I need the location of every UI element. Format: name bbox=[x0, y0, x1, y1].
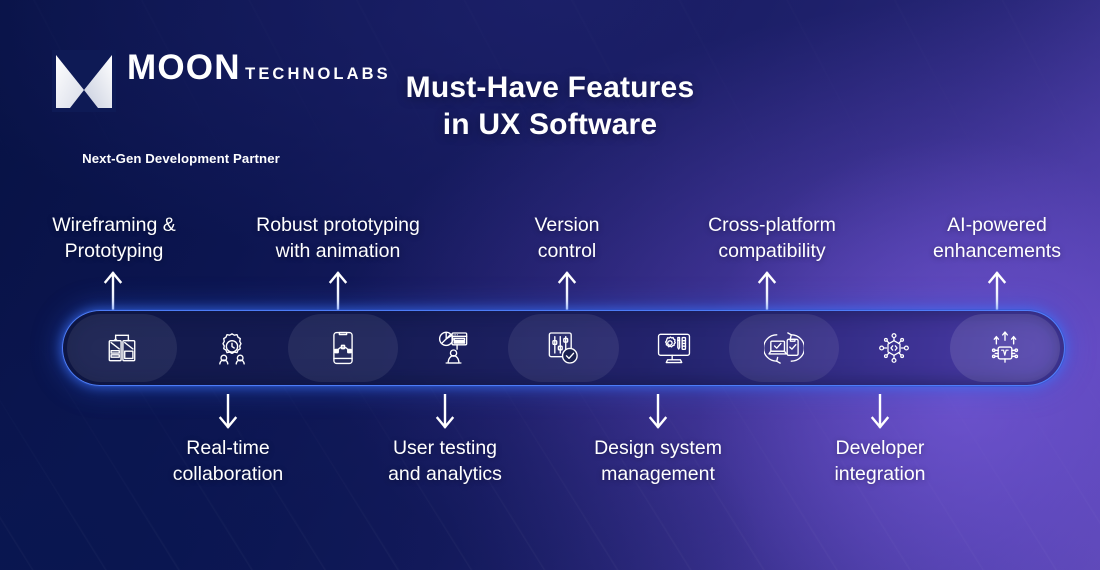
arrow-down-4 bbox=[435, 394, 455, 435]
laptop-tablet-check-icon bbox=[764, 328, 804, 368]
label-line-2: integration bbox=[780, 462, 980, 488]
feature-slot-2[interactable] bbox=[177, 314, 287, 382]
label-line-2: management bbox=[548, 462, 768, 488]
label-line-1: Developer bbox=[780, 436, 980, 462]
label-line-1: Version bbox=[467, 213, 667, 239]
arrow-up-5 bbox=[557, 270, 577, 315]
wireframe-layout-icon bbox=[102, 328, 142, 368]
arrow-up-3 bbox=[328, 270, 348, 315]
feature-slot-4[interactable] bbox=[398, 314, 508, 382]
label-line-1: Real-time bbox=[128, 436, 328, 462]
label-line-2: with animation bbox=[218, 239, 458, 265]
feature-label-top-7: Cross-platform compatibility bbox=[662, 213, 882, 265]
code-node-network-icon bbox=[874, 328, 914, 368]
ai-chip-upgrade-icon bbox=[985, 328, 1025, 368]
version-sliders-check-icon bbox=[543, 328, 583, 368]
label-line-2: control bbox=[467, 239, 667, 265]
label-line-2: compatibility bbox=[662, 239, 882, 265]
title-line-2: in UX Software bbox=[0, 107, 1100, 144]
gear-clock-collaboration-icon bbox=[212, 328, 252, 368]
label-line-1: Design system bbox=[548, 436, 768, 462]
label-line-1: Wireframing & bbox=[14, 213, 214, 239]
label-line-1: AI-powered bbox=[884, 213, 1100, 239]
feature-slot-9[interactable] bbox=[950, 314, 1060, 382]
label-line-1: User testing bbox=[345, 436, 545, 462]
arrow-down-2 bbox=[218, 394, 238, 435]
feature-label-top-5: Version control bbox=[467, 213, 667, 265]
feature-label-top-9: AI-powered enhancements bbox=[884, 213, 1100, 265]
feature-label-bottom-2: Real-time collaboration bbox=[128, 436, 328, 488]
arrow-down-6 bbox=[648, 394, 668, 435]
feature-label-top-3: Robust prototyping with animation bbox=[218, 213, 458, 265]
feature-slot-5[interactable] bbox=[508, 314, 618, 382]
page-title: Must-Have Features in UX Software bbox=[0, 70, 1100, 143]
feature-label-bottom-8: Developer integration bbox=[780, 436, 980, 488]
feature-label-top-1: Wireframing & Prototyping bbox=[14, 213, 214, 265]
title-line-1: Must-Have Features bbox=[406, 71, 695, 104]
mobile-animation-curve-icon bbox=[323, 328, 363, 368]
label-line-2: and analytics bbox=[345, 462, 545, 488]
feature-label-bottom-4: User testing and analytics bbox=[345, 436, 545, 488]
label-line-1: Cross-platform bbox=[662, 213, 882, 239]
arrow-up-1 bbox=[103, 270, 123, 315]
features-bar bbox=[62, 310, 1065, 386]
arrow-down-8 bbox=[870, 394, 890, 435]
arrow-up-7 bbox=[757, 270, 777, 315]
arrow-up-9 bbox=[987, 270, 1007, 315]
infographic-canvas: MOON TECHNOLABS Next-Gen Development Par… bbox=[0, 0, 1100, 570]
feature-slot-1[interactable] bbox=[67, 314, 177, 382]
monitor-design-tools-icon bbox=[654, 328, 694, 368]
label-line-1: Robust prototyping bbox=[218, 213, 458, 239]
label-line-2: Prototyping bbox=[14, 239, 214, 265]
feature-slot-3[interactable] bbox=[288, 314, 398, 382]
label-line-2: collaboration bbox=[128, 462, 328, 488]
feature-slot-6[interactable] bbox=[619, 314, 729, 382]
feature-label-bottom-6: Design system management bbox=[548, 436, 768, 488]
feature-slot-7[interactable] bbox=[729, 314, 839, 382]
feature-slot-8[interactable] bbox=[839, 314, 949, 382]
label-line-2: enhancements bbox=[884, 239, 1100, 265]
user-analytics-chart-icon bbox=[433, 328, 473, 368]
brand-tagline: Next-Gen Development Partner bbox=[52, 151, 310, 166]
